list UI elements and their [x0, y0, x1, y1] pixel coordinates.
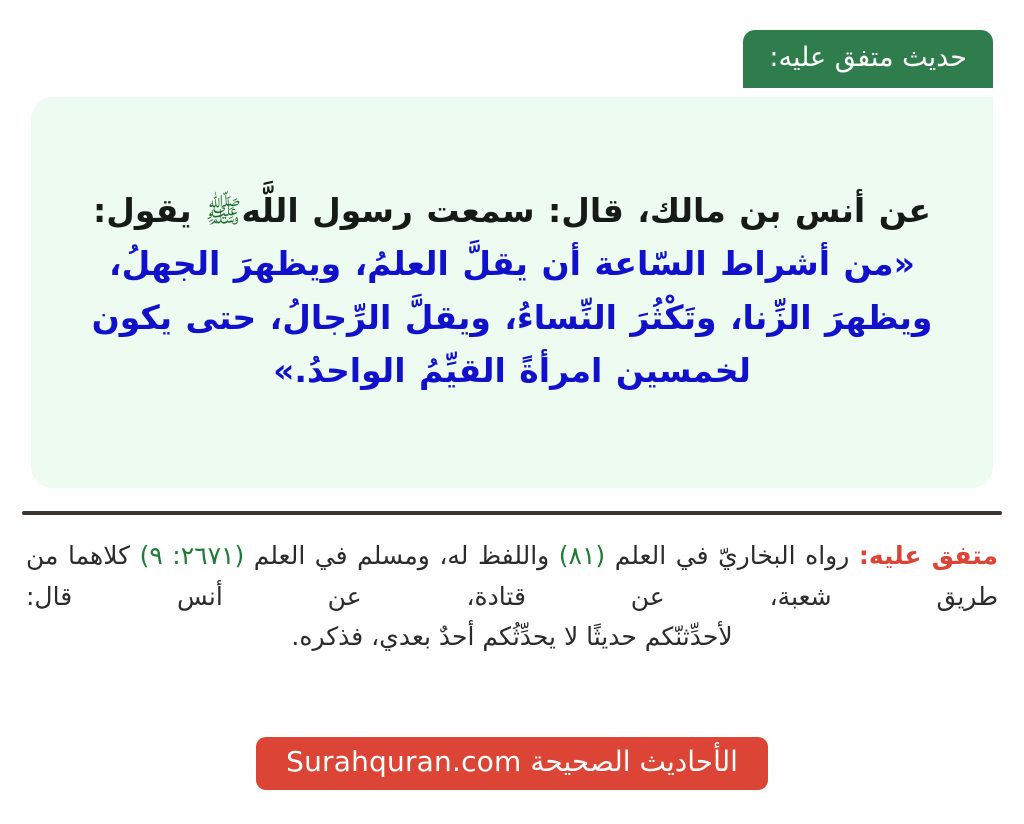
hadith-narrator-intro: عن أنس بن مالك، قال: سمعت رسول اللَّه: [241, 191, 931, 230]
footer-arabic-label: الأحاديث الصحيحة: [530, 745, 738, 778]
hadith-card: حديث متفق عليه: عن أنس بن مالك، قال: سمع…: [0, 0, 1024, 824]
section-divider: [22, 511, 1002, 515]
sallallahu-alayhi-wasallam-icon: ﷺ: [205, 195, 241, 230]
attribution-part-1: رواه البخاريّ في العلم: [605, 541, 859, 570]
site-footer-bar[interactable]: الأحاديث الصحيحة Surahquran.com: [256, 737, 768, 790]
attribution-part-2: واللفظ له، ومسلم في العلم: [244, 541, 559, 570]
footer-row: الأحاديث الصحيحة Surahquran.com: [0, 737, 1024, 790]
attribution-reference-muslim: (٢٦٧١: ٩): [140, 541, 245, 570]
attribution-block: متفق عليه: رواه البخاريّ في العلم (٨١) و…: [26, 536, 998, 658]
hadith-grade-badge: حديث متفق عليه:: [743, 30, 993, 88]
hadith-says-word: يقول:: [93, 191, 192, 230]
hadith-body-box: عن أنس بن مالك، قال: سمعت رسول اللَّهﷺ ي…: [31, 97, 993, 488]
header-badge-row: حديث متفق عليه:: [743, 30, 993, 88]
hadith-text: عن أنس بن مالك، قال: سمعت رسول اللَّهﷺ ي…: [65, 184, 959, 398]
attribution-reference-bukhari: (٨١): [559, 541, 605, 570]
footer-site-url[interactable]: Surahquran.com: [286, 745, 521, 778]
hadith-quote-body: «من أشراط السّاعة أن يقلَّ العلمُ، ويظهر…: [92, 244, 933, 390]
attribution-label: متفق عليه:: [859, 541, 998, 570]
attribution-last-line: لأحدِّثنّكم حديثًا لا يحدِّثُكم أحدٌ بعد…: [26, 617, 998, 658]
